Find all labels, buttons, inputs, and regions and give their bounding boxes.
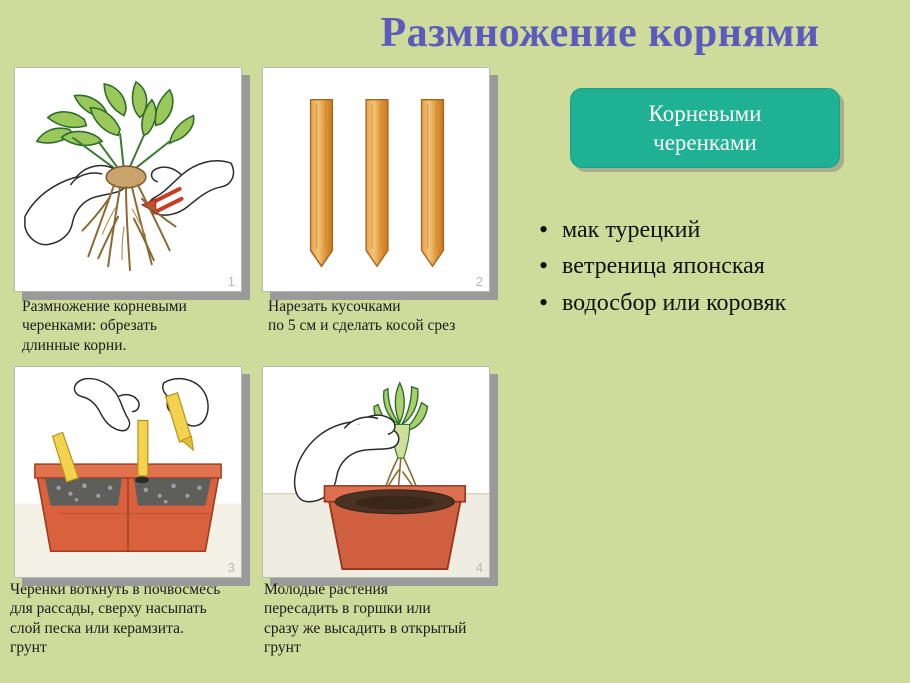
hands-cutting-roots-of-plant-icon (15, 68, 241, 291)
hand-planting-young-plant-into-pot-icon (263, 367, 489, 577)
card-number: 4 (476, 560, 483, 575)
card-caption-2: Нарезать кусочками по 5 см и сделать кос… (268, 297, 500, 336)
card-caption-4: Молодые растения пересадить в горшки или… (264, 580, 514, 658)
list-item: водосбор или коровяк (536, 285, 906, 321)
card-caption-3: Черенки воткнуть в почвосмесь для рассад… (10, 580, 262, 658)
card-caption-1: Размножение корневыми черенками: обрезат… (22, 297, 248, 355)
highlight-box: Корневыми черенками (570, 88, 840, 168)
hands-inserting-cuttings-into-seed-tray-icon (15, 367, 241, 577)
card-number: 1 (228, 274, 235, 289)
card-frame: 4 (262, 366, 490, 578)
three-root-cuttings-with-angled-cut-icon (263, 68, 489, 291)
illustration-card-2: 2 (262, 67, 490, 292)
page-title: Размножение корнями (300, 10, 900, 56)
illustration-card-1: 1 (14, 67, 242, 292)
illustration-card-3: 3 (14, 366, 242, 578)
card-frame: 3 (14, 366, 242, 578)
list-item: мак турецкий (536, 212, 906, 248)
bullet-list: мак турецкий ветреница японская водосбор… (536, 212, 906, 321)
card-number: 3 (228, 560, 235, 575)
card-frame: 2 (262, 67, 490, 292)
card-frame: 1 (14, 67, 242, 292)
illustration-card-4: 4 (262, 366, 490, 578)
list-item: ветреница японская (536, 248, 906, 284)
card-number: 2 (476, 274, 483, 289)
